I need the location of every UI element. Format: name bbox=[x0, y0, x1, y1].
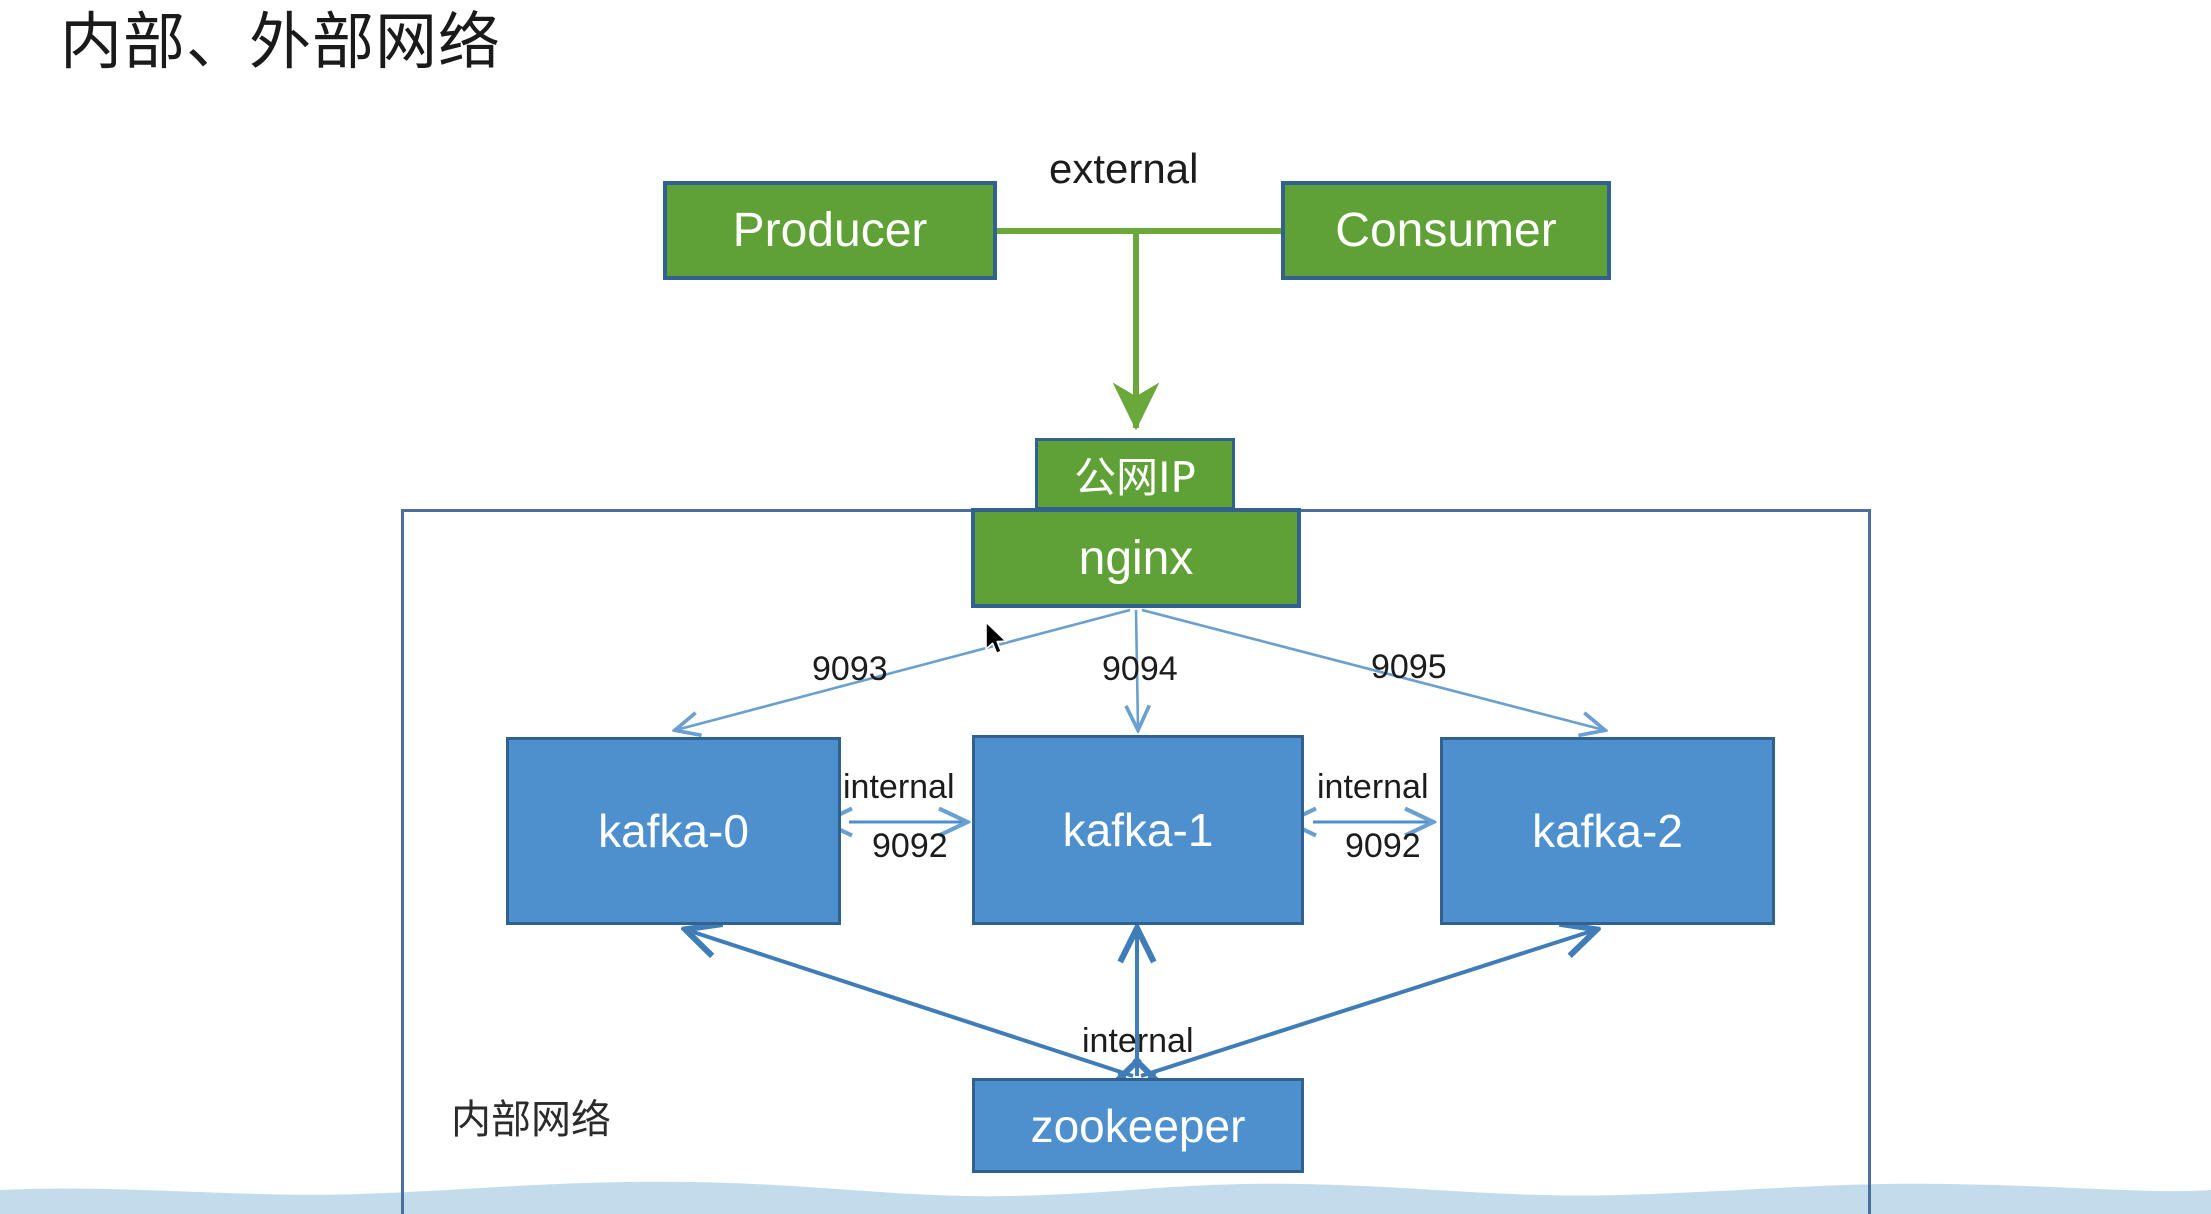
edge-label-internal-left: internal bbox=[843, 768, 955, 807]
node-nginx[interactable]: nginx bbox=[971, 508, 1301, 608]
edge-label-port-9094: 9094 bbox=[1102, 650, 1178, 689]
internal-network-label: 内部网络 bbox=[451, 1087, 611, 1145]
edge-label-internal-right: internal bbox=[1317, 768, 1429, 807]
edge-external-bus bbox=[997, 231, 1281, 428]
internal-network-container bbox=[401, 509, 1871, 1214]
edge-label-port-9093: 9093 bbox=[812, 650, 888, 689]
node-consumer[interactable]: Consumer bbox=[1281, 181, 1611, 280]
node-public-ip[interactable]: 公网IP bbox=[1035, 438, 1235, 510]
edge-label-port-9092-right: 9092 bbox=[1345, 827, 1421, 866]
edge-label-port-9095: 9095 bbox=[1371, 648, 1447, 687]
mouse-pointer-icon bbox=[984, 621, 1010, 659]
slide-canvas: 内部、外部网络 内部网络 bbox=[0, 0, 2211, 1214]
node-producer[interactable]: Producer bbox=[663, 181, 997, 280]
edge-label-external: external bbox=[1049, 145, 1198, 193]
edge-label-internal-zookeeper: internal bbox=[1082, 1022, 1194, 1061]
page-title: 内部、外部网络 bbox=[60, 6, 501, 77]
edge-label-port-9092-left: 9092 bbox=[872, 827, 948, 866]
